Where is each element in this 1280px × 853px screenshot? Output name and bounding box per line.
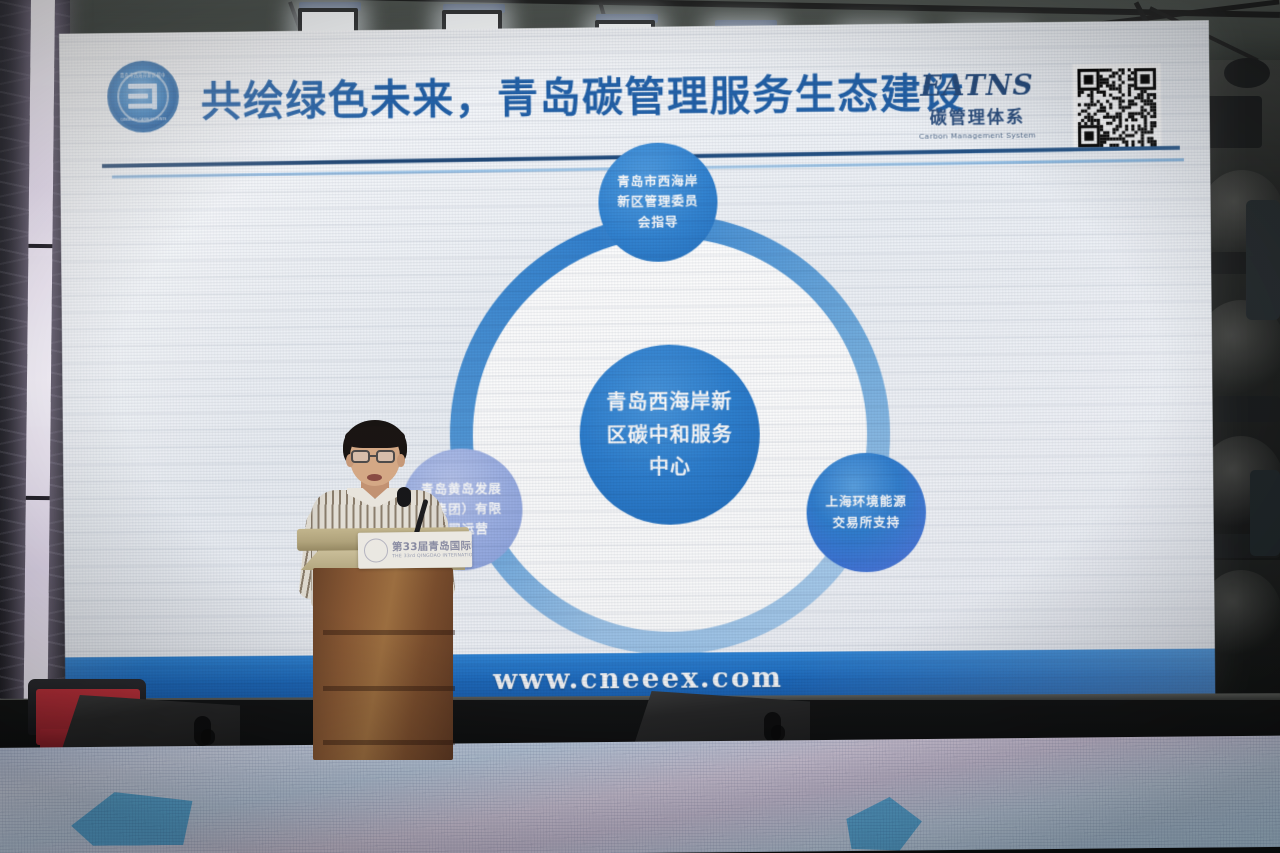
- node-line: 新区管理委员: [617, 192, 698, 213]
- speaker-mouth: [367, 474, 382, 481]
- diagram-node-center: 青岛西海岸新 区碳中和服务 中心: [579, 344, 761, 526]
- apron-graphic: [71, 791, 193, 846]
- rigging-equipment: [1214, 396, 1280, 422]
- node-line: 区碳中和服务: [607, 418, 733, 452]
- beer-festival-seal-icon: [364, 538, 388, 562]
- microphone-head-icon: [397, 487, 411, 507]
- podium-sign: 第33届青岛国际啤酒节 THE 33rd QINGDAO INTERNATION…: [358, 531, 472, 569]
- ecosystem-diagram: 青岛市西海岸 新区管理委员 会指导 青岛西海岸新 区碳中和服务 中心 青岛黄岛发…: [59, 20, 1215, 703]
- rigging-equipment: [1246, 200, 1280, 320]
- node-line: 交易所支持: [832, 512, 900, 533]
- diagram-node-top: 青岛市西海岸 新区管理委员 会指导: [598, 142, 718, 262]
- node-line: 青岛市西海岸: [617, 171, 698, 192]
- eyeglasses-icon: [351, 450, 370, 463]
- eyeglasses-icon: [376, 450, 395, 463]
- speaker-hair-front: [345, 426, 405, 448]
- eyeglasses-bridge: [369, 455, 377, 457]
- podium-band: [323, 686, 455, 691]
- podium-band: [323, 740, 455, 745]
- diagram-node-bottom-right: 上海环境能源 交易所支持: [806, 452, 926, 572]
- rigging-equipment: [1250, 470, 1280, 556]
- podium-band: [323, 630, 455, 635]
- rigging-equipment: [1224, 58, 1270, 88]
- node-line: 上海环境能源: [825, 492, 906, 513]
- apron-graphic: [841, 797, 922, 851]
- stage-photo: 青岛市西海岸新区碳中和 QINGDAO CARBON CENTER 共绘绿色未来…: [0, 0, 1280, 853]
- podium-body: [313, 568, 453, 760]
- node-line: 会指导: [638, 212, 679, 233]
- podium-sign-title-en: THE 33rd QINGDAO INTERNATIONAL BEER FEST…: [392, 553, 472, 560]
- led-screen: 青岛市西海岸新区碳中和 QINGDAO CARBON CENTER 共绘绿色未来…: [59, 20, 1215, 703]
- stage-apron-led: [0, 735, 1280, 853]
- podium-sign-title-cn: 第33届青岛国际啤酒节: [392, 538, 472, 555]
- node-line: 中心: [649, 451, 691, 484]
- node-line: 青岛西海岸新: [606, 385, 732, 419]
- speaker-ear: [397, 454, 405, 467]
